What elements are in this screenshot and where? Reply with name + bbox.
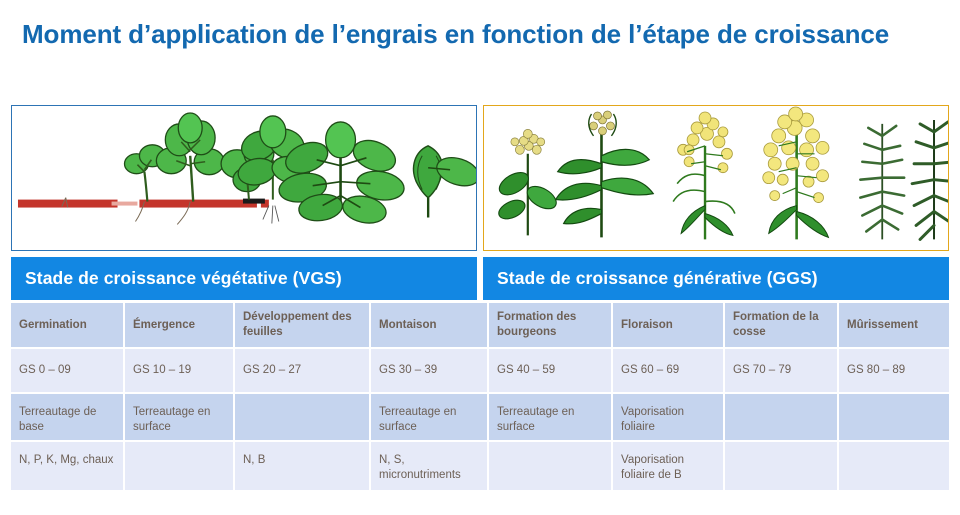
application-cell-flowering: Vaporisation foliaire [613,394,725,442]
gs-cell-leaf-development: GS 20 – 27 [235,349,371,394]
application-cell-ripening [839,394,949,442]
stage-cell-pod-formation: Formation de la cosse [725,303,839,349]
generative-plants-icon [484,106,948,248]
stage-cell-germination: Germination [11,303,125,349]
nutrient-cell-flowering: Vaporisation foliaire de B [613,442,725,490]
nutrient-cell-leaf-development: N, B [235,442,371,490]
stage-cell-leaf-development: Développement des feuilles [235,303,371,349]
slide: Moment d’application de l’engrais en fon… [0,0,960,515]
generative-illustration-panel [483,105,949,251]
growth-stage-table: Germination Émergence Développement des … [11,303,949,490]
gs-cell-bud-formation: GS 40 – 59 [489,349,613,394]
stage-cell-flowering: Floraison [613,303,725,349]
section-header-generative: Stade de croissance générative (GGS) [483,257,949,300]
illustration-panels [11,105,949,251]
table-row-stages: Germination Émergence Développement des … [11,303,949,349]
nutrient-cell-germination: N, P, K, Mg, chaux [11,442,125,490]
gs-cell-ripening: GS 80 – 89 [839,349,949,394]
stage-cell-emergence: Émergence [125,303,235,349]
stage-cell-ripening: Mûrissement [839,303,949,349]
gs-cell-emergence: GS 10 – 19 [125,349,235,394]
table-row-gs-codes: GS 0 – 09 GS 10 – 19 GS 20 – 27 GS 30 – … [11,349,949,394]
stage-cell-bud-formation: Formation des bourgeons [489,303,613,349]
application-cell-stem-elongation: Terreautage en surface [371,394,489,442]
application-cell-leaf-development [235,394,371,442]
section-header-vegetative: Stade de croissance végétative (VGS) [11,257,477,300]
page-title: Moment d’application de l’engrais en fon… [22,18,934,51]
vegetative-plants-icon [12,106,476,248]
application-cell-germination: Terreautage de base [11,394,125,442]
table-row-nutrients: N, P, K, Mg, chaux N, B N, S, micronutri… [11,442,949,490]
application-cell-bud-formation: Terreautage en surface [489,394,613,442]
nutrient-cell-ripening [839,442,949,490]
gs-cell-pod-formation: GS 70 – 79 [725,349,839,394]
nutrient-cell-bud-formation [489,442,613,490]
section-header-bars: Stade de croissance végétative (VGS) Sta… [11,257,949,300]
nutrient-cell-pod-formation [725,442,839,490]
gs-cell-flowering: GS 60 – 69 [613,349,725,394]
gs-cell-stem-elongation: GS 30 – 39 [371,349,489,394]
vegetative-illustration-panel [11,105,477,251]
nutrient-cell-emergence [125,442,235,490]
gs-cell-germination: GS 0 – 09 [11,349,125,394]
nutrient-cell-stem-elongation: N, S, micronutriments [371,442,489,490]
application-cell-pod-formation [725,394,839,442]
application-cell-emergence: Terreautage en surface [125,394,235,442]
stage-cell-stem-elongation: Montaison [371,303,489,349]
table-row-applications: Terreautage de base Terreautage en surfa… [11,394,949,442]
